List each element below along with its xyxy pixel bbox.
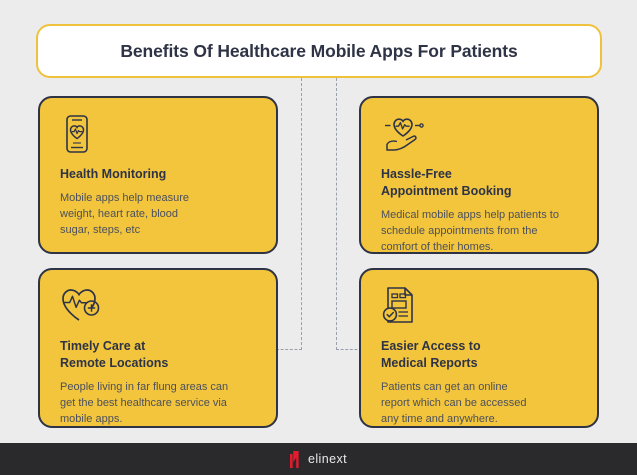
infographic-canvas: Benefits Of Healthcare Mobile Apps For P…	[0, 0, 637, 475]
hand-holding-heart-pulse-icon	[381, 114, 579, 154]
footer-bar: elinext	[0, 443, 637, 475]
benefit-card-health-monitoring[interactable]: Health Monitoring Mobile apps help measu…	[38, 96, 278, 254]
connector-line-right-vertical	[336, 78, 337, 350]
connector-line-left-vertical	[301, 78, 302, 350]
card-title: Hassle-Free Appointment Booking	[381, 166, 579, 200]
heart-pulse-plus-icon	[60, 286, 258, 326]
footer-brand-name: elinext	[308, 452, 347, 466]
card-title: Health Monitoring	[60, 166, 258, 183]
elinext-n-mark-icon	[290, 451, 301, 468]
benefit-card-medical-reports[interactable]: Easier Access to Medical Reports Patient…	[359, 268, 599, 428]
page-title: Benefits Of Healthcare Mobile Apps For P…	[120, 41, 517, 62]
page-title-pill: Benefits Of Healthcare Mobile Apps For P…	[36, 24, 602, 78]
phone-heart-pulse-icon	[60, 114, 258, 154]
benefit-card-timely-care[interactable]: Timely Care at Remote Locations People l…	[38, 268, 278, 428]
card-body: Mobile apps help measure weight, heart r…	[60, 191, 258, 239]
card-title: Timely Care at Remote Locations	[60, 338, 258, 372]
connector-line-to-card-three	[276, 349, 302, 350]
document-check-icon	[381, 286, 579, 326]
benefit-card-appointment-booking[interactable]: Hassle-Free Appointment Booking Medical …	[359, 96, 599, 254]
card-body: Patients can get an online report which …	[381, 380, 579, 428]
card-body: Medical mobile apps help patients to sch…	[381, 208, 579, 256]
card-body: People living in far flung areas can get…	[60, 380, 258, 428]
card-title: Easier Access to Medical Reports	[381, 338, 579, 372]
